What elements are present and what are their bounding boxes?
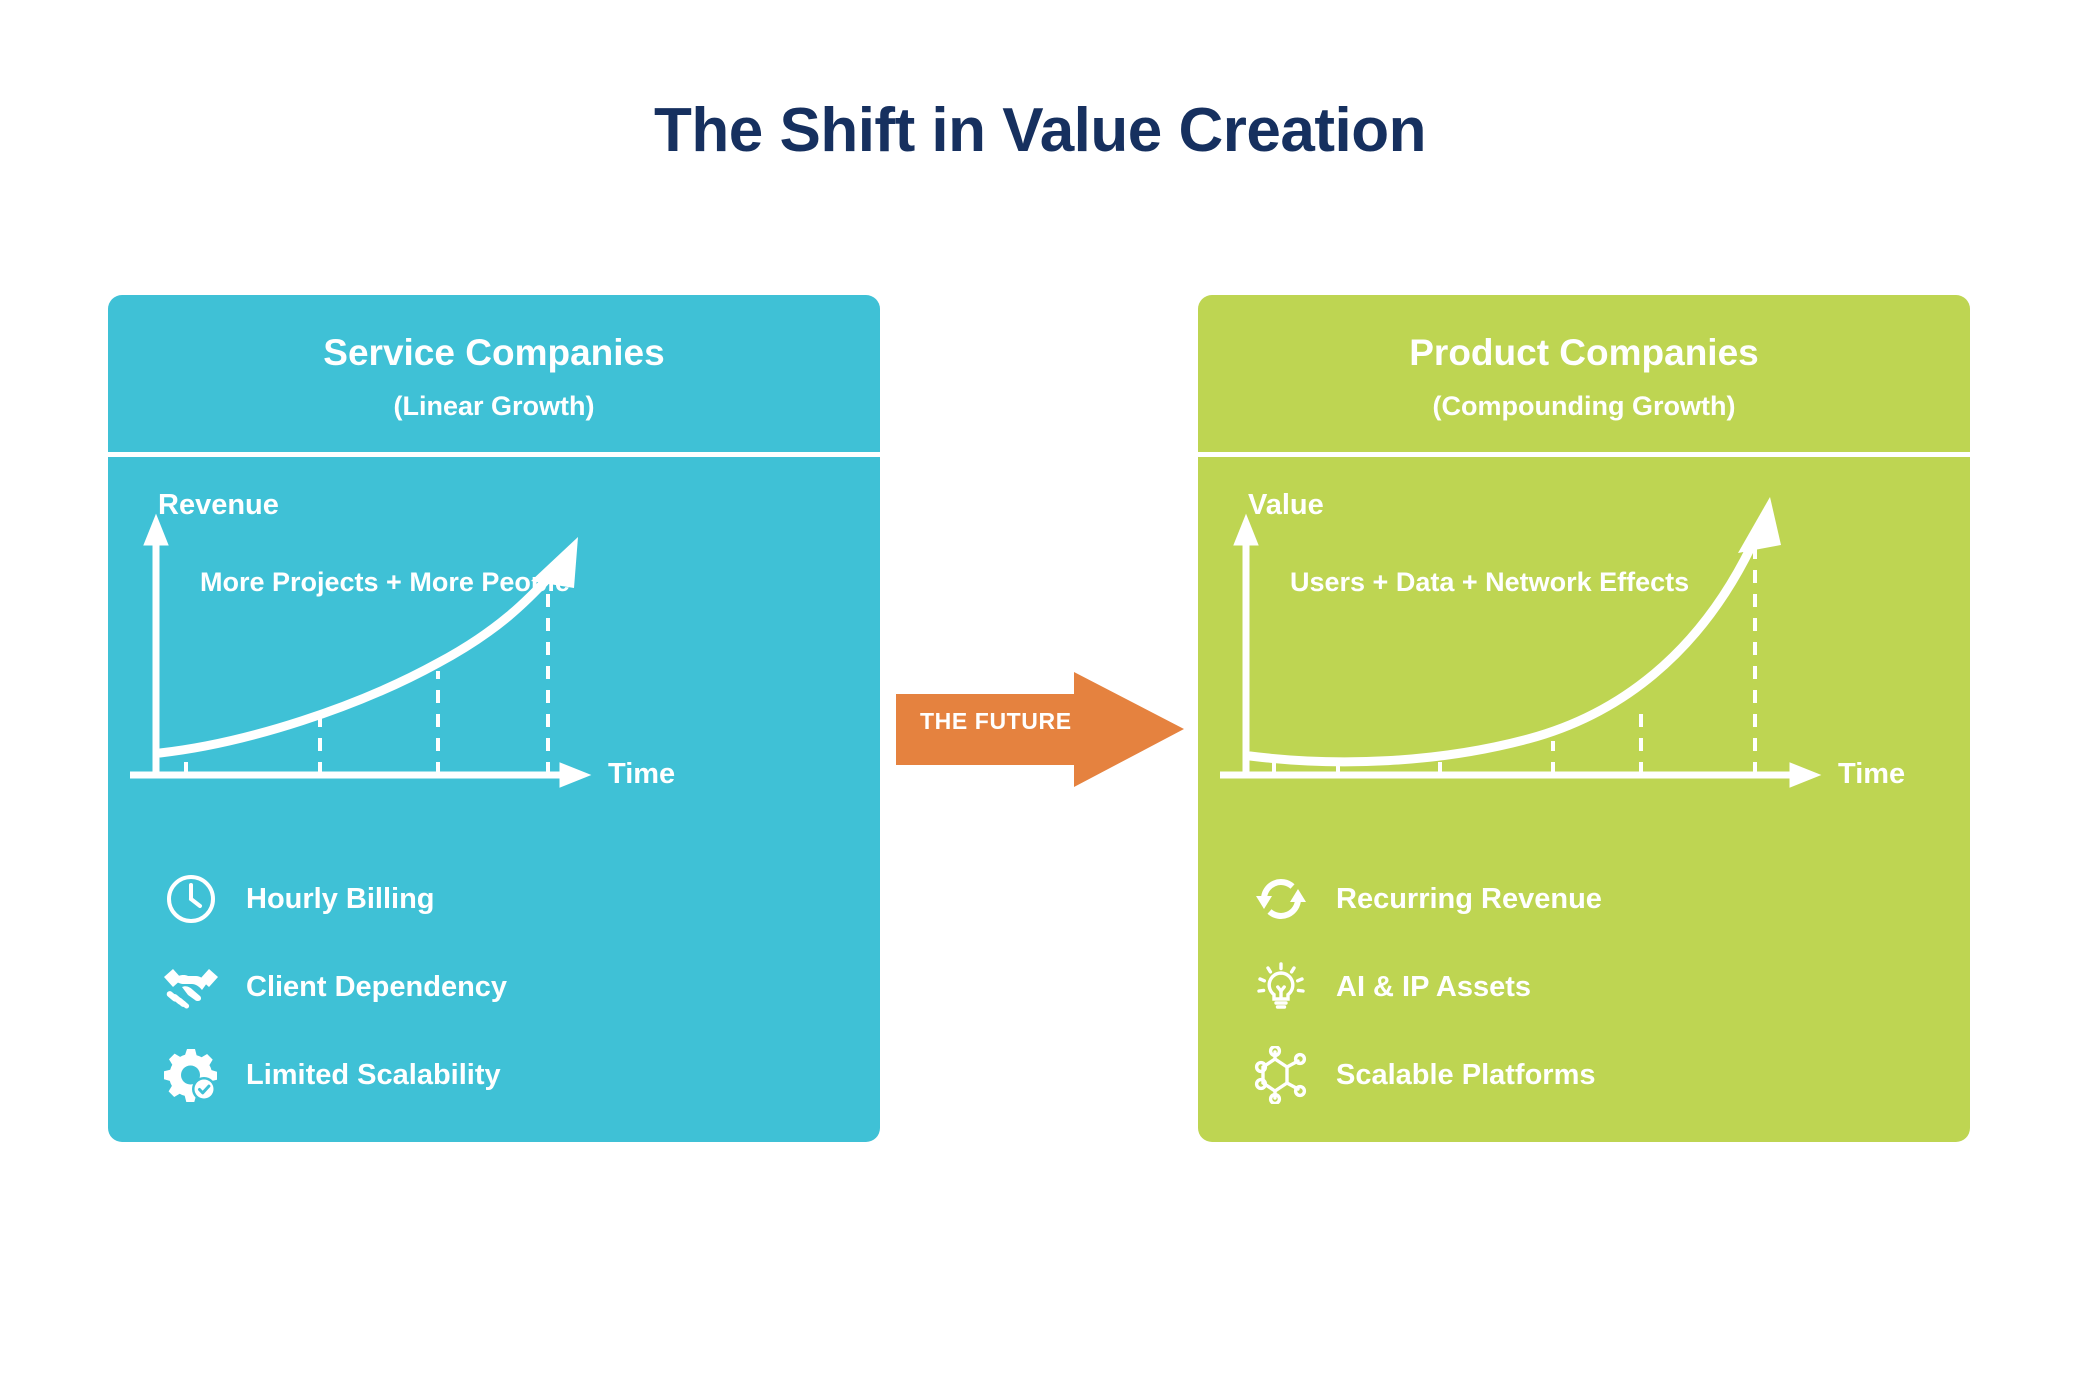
panel-service-title: Service Companies <box>108 333 880 374</box>
list-item-label: Client Dependency <box>246 971 507 1004</box>
panel-product-subtitle: (Compounding Growth) <box>1198 392 1970 422</box>
chart-product-annotation: Users + Data + Network Effects <box>1290 567 1689 598</box>
list-item-label: Limited Scalability <box>246 1059 501 1092</box>
chart-service-annotation: More Projects + More People <box>200 567 570 598</box>
list-item: Recurring Revenue <box>1250 855 1950 943</box>
handshake-icon <box>160 956 222 1018</box>
list-item: Scalable Platforms <box>1250 1031 1950 1119</box>
list-item-label: AI & IP Assets <box>1336 971 1531 1004</box>
panel-service-companies: Service Companies (Linear Growth) <box>108 295 880 1142</box>
panel-service-subtitle: (Linear Growth) <box>108 392 880 422</box>
feature-list-service: Hourly Billing Client Dep <box>160 855 860 1119</box>
chart-service-x-axis-label: Time <box>608 758 675 791</box>
panel-product-header: Product Companies (Compounding Growth) <box>1198 295 1970 452</box>
list-item-label: Recurring Revenue <box>1336 883 1602 916</box>
chart-product-x-axis-label: Time <box>1838 758 1905 791</box>
chart-product-compounding-growth: Value Time Users + Data + Network Effect… <box>1198 475 1970 845</box>
list-item: Limited Scalability <box>160 1031 860 1119</box>
gear-check-icon <box>160 1044 222 1106</box>
lightbulb-icon <box>1250 956 1312 1018</box>
network-nodes-icon <box>1250 1044 1312 1106</box>
list-item-label: Scalable Platforms <box>1336 1059 1596 1092</box>
chart-product-y-axis-label: Value <box>1248 489 1324 522</box>
list-item-label: Hourly Billing <box>246 883 435 916</box>
chart-service-linear-growth: Revenue Time More Projects + More People <box>108 475 880 845</box>
clock-icon <box>160 868 222 930</box>
the-future-label: THE FUTURE <box>920 708 1072 735</box>
list-item: Client Dependency <box>160 943 860 1031</box>
page-title: The Shift in Value Creation <box>0 98 2080 163</box>
panel-service-header: Service Companies (Linear Growth) <box>108 295 880 452</box>
feature-list-product: Recurring Revenue <box>1250 855 1950 1119</box>
recycle-refresh-icon <box>1250 868 1312 930</box>
list-item: AI & IP Assets <box>1250 943 1950 1031</box>
panel-product-companies: Product Companies (Compounding Growth) <box>1198 295 1970 1142</box>
panel-service-divider <box>108 452 880 457</box>
panel-product-title: Product Companies <box>1198 333 1970 374</box>
list-item: Hourly Billing <box>160 855 860 943</box>
chart-service-y-axis-label: Revenue <box>158 489 279 522</box>
panel-product-divider <box>1198 452 1970 457</box>
